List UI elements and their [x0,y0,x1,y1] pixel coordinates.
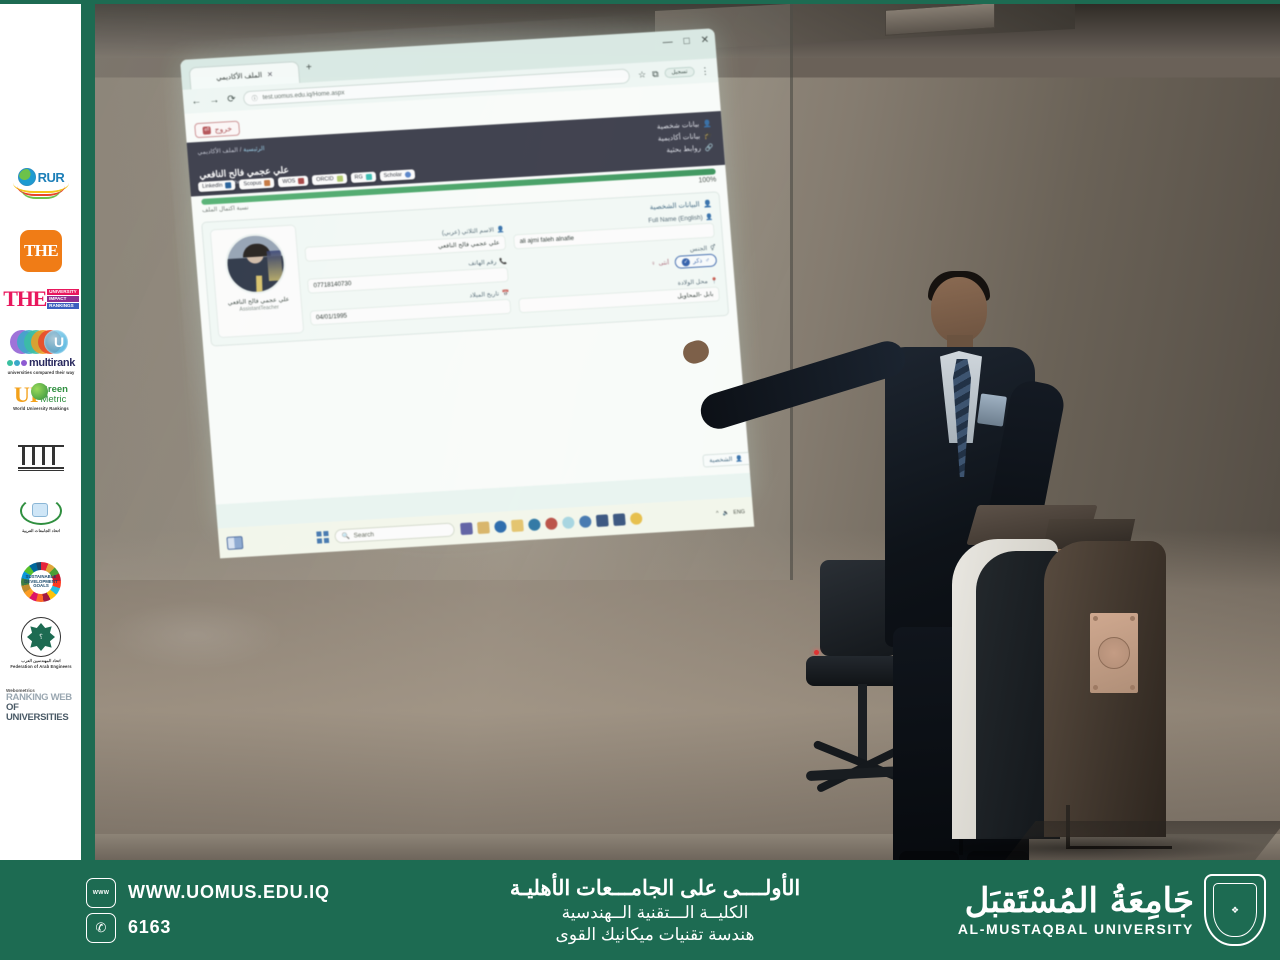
multirank-dots [7,360,27,366]
webometrics-mark: Webometrics RANKING WEB OF UNIVERSITIES [6,688,76,723]
nav-item-label: روابط بحثية [666,143,701,154]
close-window-button[interactable]: ✕ [700,35,709,46]
columns-icon [18,445,64,471]
male-icon: ♂ [705,257,710,264]
the-impact-mark: THE UNIVERSITY IMPACT RANKINGS [3,288,78,310]
personal-data-card: 👤 البيانات الشخصية 👤 Full Name (English) [201,191,729,346]
the-logo: THE [6,230,76,272]
windows-start-icon[interactable] [316,531,329,544]
federation-of-arab-engineers-logo: ؟ اتحاد المهندسين العرب Federation of Ar… [6,617,76,670]
close-icon[interactable]: ✕ [267,70,274,78]
sdg-wheel-icon: SUSTAINABLE DEVELOPMENT GOALS [21,562,61,602]
user-icon: 👤 [705,213,713,221]
sdg-hub-label: SUSTAINABLE DEVELOPMENT GOALS [29,570,53,594]
badge-label: RG [354,174,363,180]
reload-icon[interactable]: ⟳ [227,93,236,104]
field-label: Full Name (English) [648,214,703,224]
field-name-english: 👤 Full Name (English) ali ajmi faleh aln… [512,213,715,250]
address-bar-url: test.uomus.edu.iq/Home.aspx [262,89,344,101]
badge-scopus[interactable]: Scopus [239,178,275,190]
browser-menu-icon[interactable]: ⋮ [700,65,710,76]
field-label: الاسم الثلاثي (عربي) [442,226,495,236]
nav-item-personal-data[interactable]: 👤 بيانات شخصية [656,119,712,131]
footer-brand-text: جَامِعَةُ المُسْتَقبَل AL-MUSTAQBAL UNIV… [958,884,1194,937]
footer-website-line[interactable]: WWW WWW.UOMUS.EDU.IQ [86,878,360,908]
badge-researchgate[interactable]: RG [350,172,376,183]
lecture-room-photo: الملف الأكاديمي ✕ + — □ ✕ ← → ⟳ [95,0,1280,860]
footer-line-2: الكليــة الـــتقنية الــهندسية [360,903,950,923]
the-impact-bar-3: RANKINGS [47,303,79,309]
search-input[interactable]: 🔍 Search [334,522,455,543]
the-impact-bar-2: IMPACT [47,296,79,302]
site-info-icon[interactable]: ⓘ [251,93,258,102]
maximize-button[interactable]: □ [683,36,690,47]
avatar-tie [256,276,263,294]
footer-line-3: هندسة تقنيات ميكانيك القوى [360,925,950,945]
rankings-rail: RUR THE THE UNIVERSITY IMPACT RANKINGS U [0,0,95,860]
skype-icon[interactable] [562,516,575,529]
taskview-icon[interactable] [226,536,243,550]
star-icon: ؟ [27,623,55,651]
taskbar-apps [460,512,643,535]
badge-label: LinkedIn [202,183,223,190]
badge-label: ORCID [316,176,334,183]
breadcrumb-separator: / [240,146,242,153]
ui-greenmetric-logo: UI Green Metric World University Ranking… [6,385,76,411]
link-icon: 🔗 [705,143,714,151]
minimize-button[interactable]: — [662,37,673,49]
presenter-lanyard-badge [977,393,1007,426]
web-page: ⏎ خروج 👤 بيانات شخصية 🎓 [184,82,750,504]
phone-icon: 📞 [499,257,507,265]
extensions-icon[interactable]: ⧉ [652,68,659,79]
avatar-card: علي عجمي فالح النافعي AssistantTeacher [210,224,305,338]
multirank-label: multirank [29,357,75,369]
plate-screw [1130,616,1135,621]
lectern-podium [950,505,1280,860]
search-icon: 🔍 [341,532,350,540]
nav-item-research-links[interactable]: 🔗 روابط بحثية [658,142,714,154]
the-impact-label: THE [3,288,46,310]
scopus-icon [264,180,270,186]
field-label: محل الولادة [677,278,708,287]
forward-icon[interactable]: → [209,94,220,106]
logout-label: خروج [214,124,232,134]
side-tab-label: الشخصية [709,456,732,464]
nav-item-academic-data[interactable]: 🎓 بيانات أكاديمية [657,131,713,143]
linkedin-icon [225,182,231,188]
badge-orcid[interactable]: ORCID [312,173,347,185]
badge-linkedin[interactable]: LinkedIn [198,180,236,192]
multirank-logo: U multirank universities compared their … [6,330,76,375]
screenshot-root: RUR THE THE UNIVERSITY IMPACT RANKINGS U [0,0,1280,960]
the-impact-bars: UNIVERSITY IMPACT RANKINGS [47,288,79,310]
researchgate-icon [365,174,371,180]
wreath-icon [18,495,64,527]
field-birthplace: 📍 محل الولادة بابل -المحاويل [517,276,720,313]
multirank-wordmark: multirank [7,357,75,369]
multirank-circles: U [10,330,72,356]
breadcrumb-current: الملف الأكاديمي [197,147,238,156]
field-label: رقم الهاتف [468,258,497,267]
the-impact-rankings-logo: THE UNIVERSITY IMPACT RANKINGS [6,288,76,310]
nav-item-label: بيانات أكاديمية [657,131,700,142]
field-label: تاريخ الميلاد [469,290,499,299]
arab-engineers-icon: ؟ [21,617,61,657]
university-shield-icon: ❖ [1204,874,1266,946]
logout-button[interactable]: ⏎ خروج [194,121,240,139]
word-icon[interactable] [596,514,609,527]
phone-icon: ✆ [86,913,116,943]
badge-label: WOS [282,178,295,185]
gender-male-radio[interactable]: ♂ ذكر ✓ [675,253,718,268]
rur-arcs [13,183,69,195]
gender-female-radio[interactable]: أنثى ♀ [651,259,670,267]
gender-male-label: ذكر [693,257,703,265]
field-phone: 📞 رقم الهاتف 07718140730 [306,257,509,294]
chrome-icon[interactable] [545,517,558,530]
badge-label: Scopus [243,180,261,187]
footer-website: WWW.UOMUS.EDU.IQ [128,882,330,903]
graduation-cap-icon: 🎓 [704,131,713,139]
orcid-icon [336,176,342,182]
browser-toolbar-right: ☆ ⧉ تسجيل ⋮ [638,65,710,80]
plate-screw [1093,685,1098,690]
footer-phone-line[interactable]: ✆ 6163 [86,913,360,943]
location-pin-icon: 📍 [710,276,718,284]
projected-screen: الملف الأكاديمي ✕ + — □ ✕ ← → ⟳ [180,28,754,558]
podium-emblem-plate [1090,613,1138,693]
multirank-caption: universities compared their way [8,370,75,375]
rankings-rail-background [0,0,81,860]
unesco-columns-logo [6,445,76,471]
shield-inner-emblem: ❖ [1213,883,1257,937]
female-icon: ♀ [651,260,656,267]
back-icon[interactable]: ← [191,95,202,107]
rur-logo: RUR [6,168,76,195]
window-controls: — □ ✕ [662,35,709,49]
profile-pill[interactable]: تسجيل [664,67,695,79]
calendar-icon: 📅 [502,289,510,297]
chrome2-icon[interactable] [630,512,643,525]
progress-label: نسبة اكتمال الملف [202,204,249,214]
top-green-strip [0,0,1280,4]
progress-percent: 100% [698,176,716,184]
globe-www-icon: WWW [86,878,116,908]
greenmetric-mark: UI Green Metric [14,385,68,405]
word2-icon[interactable] [613,513,626,526]
edge-icon[interactable] [528,518,541,531]
field-gender: ⚥ الجنس ♂ ذكر ✓ [515,245,718,282]
footer-bar: WWW WWW.UOMUS.EDU.IQ ✆ 6163 الأولــــى ع… [0,860,1280,960]
new-tab-button[interactable]: + [306,62,313,73]
browser-window: الملف الأكاديمي ✕ + — □ ✕ ← → ⟳ [180,28,752,528]
gender-icon: ⚥ [710,245,716,252]
arab-engineers-caption-ar: اتحاد المهندسين العرب [21,658,60,663]
google-scholar-icon [405,171,411,177]
floor-shadow [950,835,1270,860]
personal-data-fields: 👤 البيانات الشخصية 👤 Full Name (English) [303,200,721,333]
plate-screw [1130,685,1135,690]
explorer-icon[interactable] [477,521,490,534]
association-of-arab-universities-logo: اتحاد الجامعات العربية [6,495,76,533]
avatar [223,232,288,295]
arab-engineers-caption-en: Federation of Arab Engineers [10,664,71,669]
breadcrumb-home[interactable]: الرئيسية [243,145,265,153]
footer-brand: جَامِعَةُ المُسْتَقبَل AL-MUSTAQBAL UNIV… [950,874,1280,946]
brand-name-english: AL-MUSTAQBAL UNIVERSITY [958,921,1194,937]
wall-scuff [105,600,285,670]
avatar-flag [267,250,283,281]
footer-center-text: الأولــــى على الجامـــعات الأهليـة الكل… [360,876,950,945]
arab-universities-caption: اتحاد الجامعات العربية [22,528,60,533]
nav-item-label: بيانات شخصية [657,119,700,130]
footer-contact: WWW WWW.UOMUS.EDU.IQ ✆ 6163 [0,873,360,948]
globe-icon [31,383,48,400]
footer-phone: 6163 [128,917,171,938]
search-placeholder: Search [353,531,374,539]
badge-scholar[interactable]: Scholar [379,169,415,181]
presenter-head [931,277,987,343]
badge-label: Scholar [383,172,402,179]
tray-caret-icon[interactable]: ^ [716,511,719,517]
the-impact-bar-1: UNIVERSITY [47,289,79,295]
user-icon: 👤 [703,119,712,127]
folder-icon[interactable] [511,519,524,532]
wos-icon [298,178,304,184]
field-label: الجنس [690,245,708,253]
store-icon[interactable] [579,515,592,528]
webometrics-line3: OF UNIVERSITIES [6,703,76,723]
app-nav-items: 👤 بيانات شخصية 🎓 بيانات أكاديمية 🔗 روابط… [656,119,714,161]
breadcrumb: الرئيسية / الملف الأكاديمي [197,144,287,156]
badge-wos[interactable]: WOS [278,176,309,188]
volume-icon[interactable]: 🔈 [722,510,729,516]
brand-name-arabic: جَامِعَةُ المُسْتَقبَل [958,884,1194,918]
user-icon: 👤 [497,225,505,233]
plate-screw [1093,616,1098,621]
field-name-arabic: 👤 الاسم الثلاثي (عربي) علي عجمي فالح الن… [304,225,507,262]
section-title: البيانات الشخصية [649,200,699,211]
the-label: THE [20,230,62,272]
teams-icon[interactable] [460,522,473,535]
radio-selected-icon: ✓ [682,258,691,266]
bookmark-star-icon[interactable]: ☆ [638,69,647,80]
footer-line-1: الأولــــى على الجامـــعات الأهليـة [360,876,950,901]
mail-icon[interactable] [494,520,507,533]
browser-tab-title: الملف الأكاديمي [216,71,263,82]
sdg-wheel-logo: SUSTAINABLE DEVELOPMENT GOALS [6,562,76,602]
gender-female-label: أنثى [658,259,669,267]
webometrics-logo: Webometrics RANKING WEB OF UNIVERSITIES [6,688,76,723]
logout-icon: ⏎ [202,126,211,134]
university-emblem-icon [1098,637,1130,669]
field-birthdate: 📅 تاريخ الميلاد 04/01/1995 [309,289,512,326]
user-icon: 👤 [703,200,712,208]
